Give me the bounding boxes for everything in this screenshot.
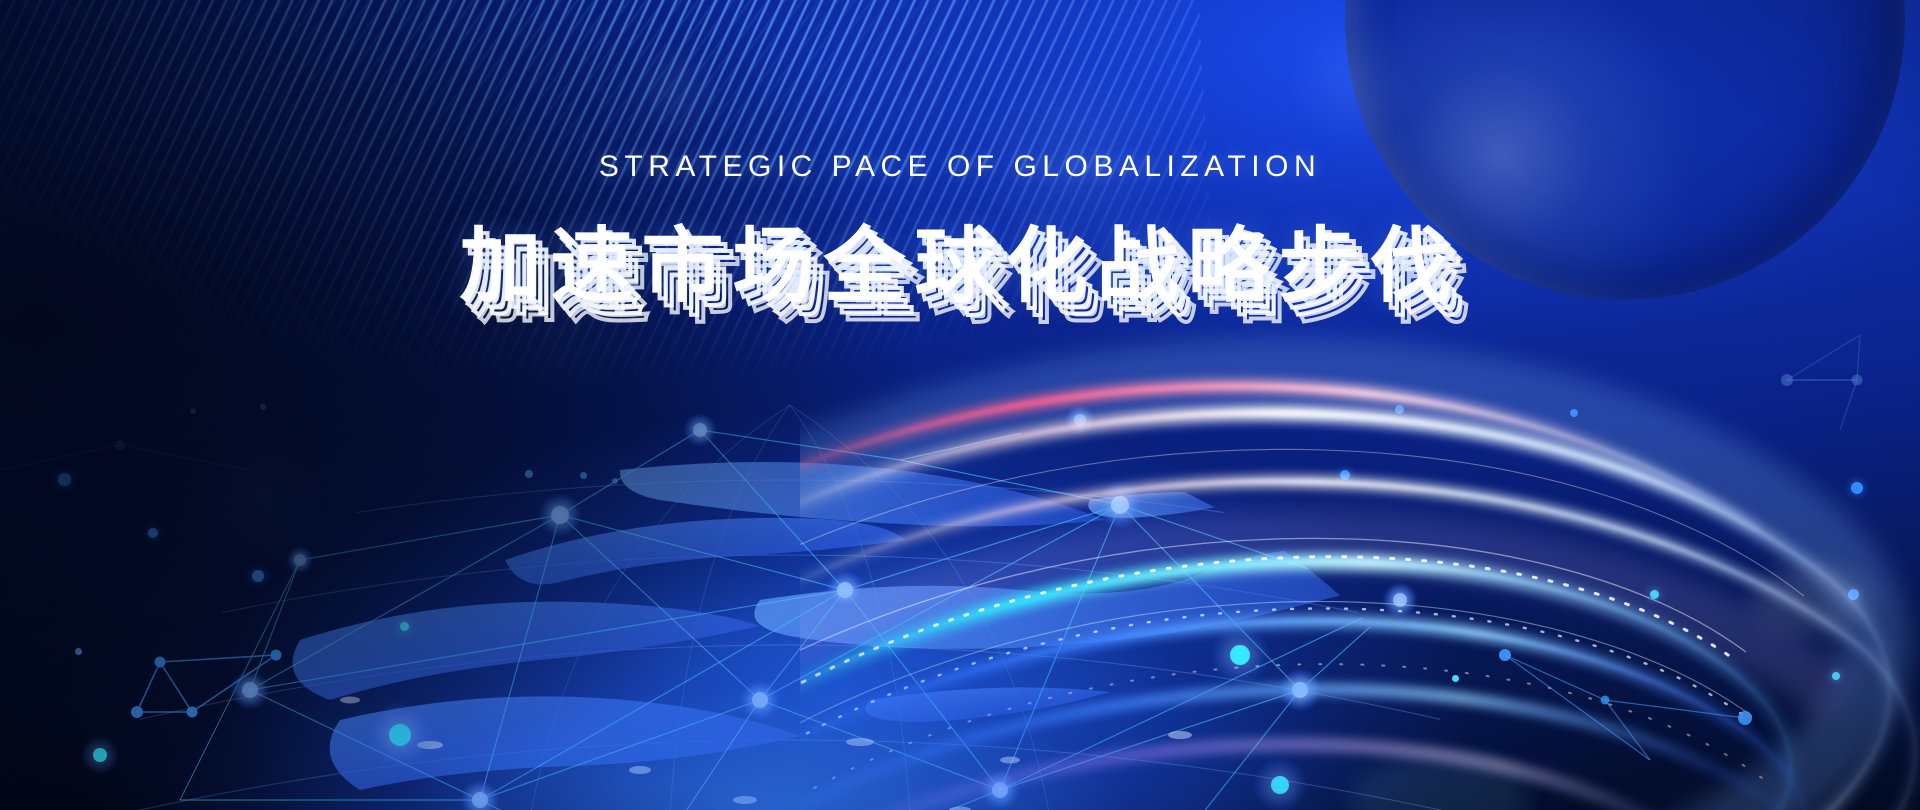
- headline-wrap: 加速市场全球化战略步伐 加速市场全球化战略步伐 加速市场全球化战略步伐 加速市场…: [0, 215, 1920, 319]
- hero-banner: STRATEGIC PACE OF GLOBALIZATION 加速市场全球化战…: [0, 0, 1920, 810]
- particle-dot: [525, 470, 533, 478]
- subtitle: STRATEGIC PACE OF GLOBALIZATION: [0, 152, 1920, 182]
- particle-dot: [580, 472, 587, 479]
- particle-dot: [400, 622, 409, 631]
- particle-dot: [260, 404, 266, 410]
- particle-dot: [252, 570, 264, 582]
- particle-dot: [612, 478, 618, 484]
- particle-dot: [75, 648, 82, 655]
- particle-dot: [148, 528, 158, 538]
- particle-dot: [190, 408, 196, 414]
- hero-text-block: STRATEGIC PACE OF GLOBALIZATION 加速市场全球化战…: [0, 152, 1920, 319]
- particle-dot: [58, 473, 71, 486]
- headline: 加速市场全球化战略步伐: [0, 215, 1920, 319]
